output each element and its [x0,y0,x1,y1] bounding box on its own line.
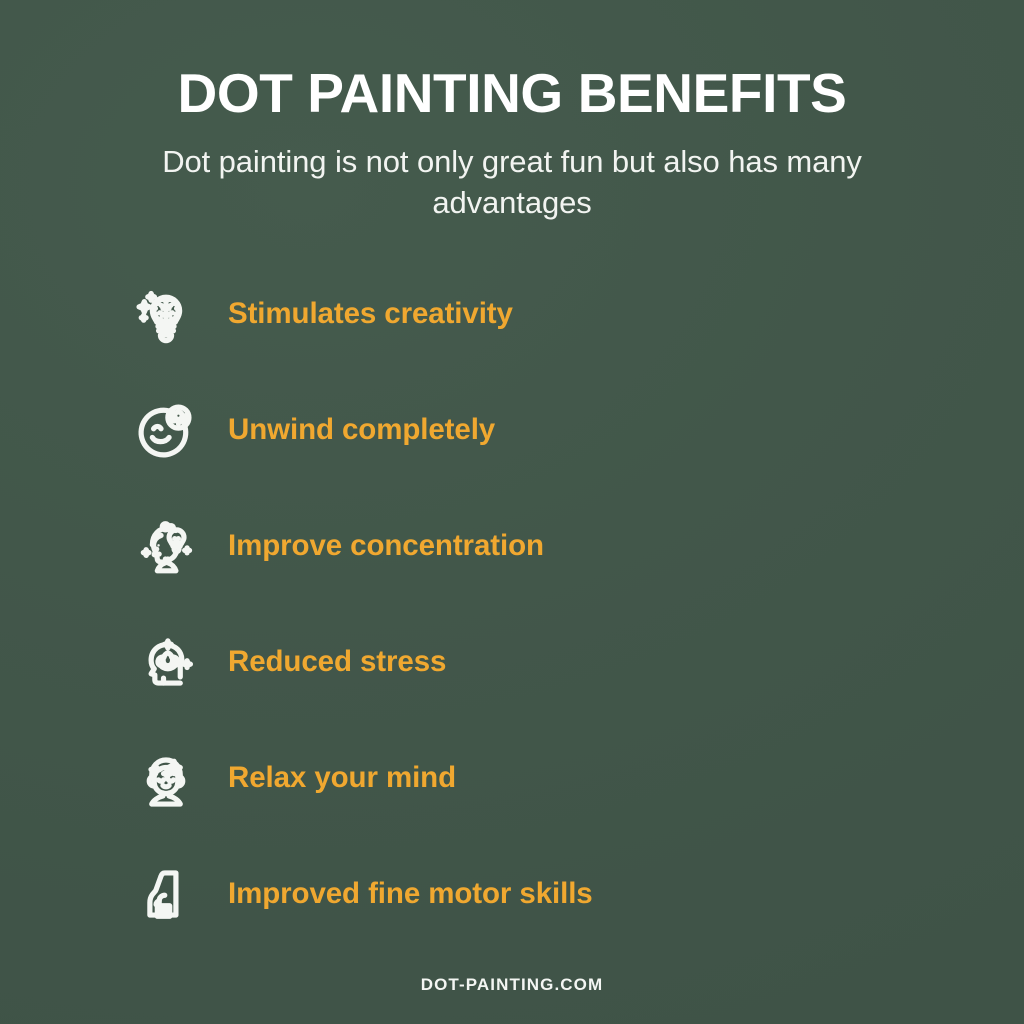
infographic-root: DOT PAINTING BENEFITS Dot painting is no… [0,0,1024,1024]
list-item: Relax your mind [130,742,890,814]
pinching-hand-icon [130,858,202,930]
list-item-label: Relax your mind [202,761,456,795]
benefits-list: Stimulates creativity [130,278,890,930]
page-subtitle: Dot painting is not only great fun but a… [142,141,882,223]
header-block: DOT PAINTING BENEFITS Dot painting is no… [0,66,1024,223]
list-item-label: Stimulates creativity [202,297,513,331]
list-item: Improved fine motor skills [130,858,890,930]
list-item: Stimulates creativity [130,278,890,350]
footer-website: DOT-PAINTING.COM [0,975,1024,995]
list-item: Unwind completely [130,394,890,466]
page-title: DOT PAINTING BENEFITS [0,66,1024,121]
list-item: Improve concentration [130,510,890,582]
list-item-label: Reduced stress [202,645,446,679]
list-item-label: Improve concentration [202,529,544,563]
list-item-label: Improved fine motor skills [202,877,593,911]
brain-lightbulb-icon [130,278,202,350]
head-profile-lightbulb-icon [130,510,202,582]
list-item-label: Unwind completely [202,413,495,447]
list-item: Reduced stress [130,626,890,698]
winking-smiley-flower-icon [130,394,202,466]
relaxed-face-stars-icon [130,742,202,814]
head-profile-lotus-icon [130,626,202,698]
